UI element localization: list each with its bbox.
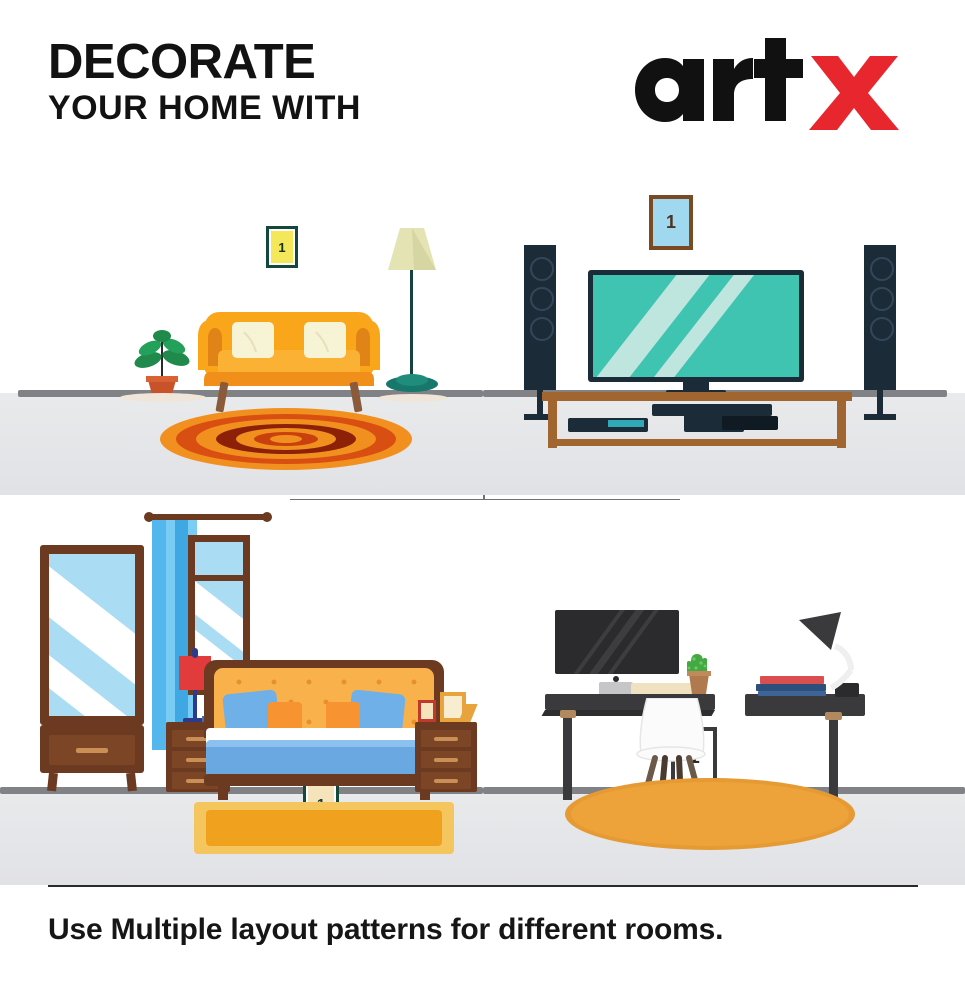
nightstand-handle-2[interactable]: [434, 758, 458, 762]
headline-line-1: DECORATE: [48, 38, 508, 87]
mirror-glass: [49, 554, 135, 716]
window-mullion: [195, 575, 243, 581]
artwork-number: 1: [271, 231, 293, 263]
yellow-sofa: [196, 288, 382, 400]
bed: [204, 660, 444, 800]
monitor-stand: [599, 682, 633, 694]
floor-lamp-icon: [374, 220, 450, 398]
artwork-number: 1: [653, 199, 689, 246]
media-box-accent: [608, 420, 644, 427]
tv-screen: [593, 275, 799, 377]
oval-rug: [565, 778, 855, 850]
lamp-stem: [193, 690, 197, 718]
bed-comforter-edge: [206, 740, 442, 747]
curtain-panel-2: [166, 520, 175, 750]
nightstand-handle-1[interactable]: [434, 737, 458, 741]
monitor-screen: [555, 610, 679, 674]
bed-base-rail: [204, 774, 444, 786]
scene-tv-room: 1: [483, 170, 965, 495]
lamp-shadow: [378, 394, 448, 402]
speaker-base: [864, 414, 896, 420]
monitor: [555, 610, 679, 692]
plant-shadow: [120, 393, 206, 402]
tower-speaker-right: [864, 245, 896, 425]
round-rug: [160, 408, 412, 470]
mirror-leg-left: [47, 773, 58, 792]
caption-divider-rule: [48, 885, 918, 887]
desk-leg-left-cap: [560, 710, 576, 718]
potted-plant: [132, 320, 192, 398]
mirror-leg-right: [126, 773, 137, 792]
photo-frame-small-inner: [421, 703, 433, 719]
living-room-art-frame[interactable]: 1: [266, 226, 298, 268]
poster-canvas: DECORATE YOUR HOME WITH: [0, 0, 965, 1000]
cactus-plant: [681, 646, 717, 696]
speaker-cone-mid: [530, 287, 554, 311]
television: [588, 270, 804, 398]
scene-living-room: 1: [0, 170, 483, 495]
desk-leg-right-cap: [825, 712, 842, 720]
tv-room-art-frame[interactable]: 1: [649, 195, 693, 250]
logo-artx-icon: [615, 36, 915, 144]
floor-lamp: [374, 220, 450, 398]
speaker-cone-mid: [870, 287, 894, 311]
rectangular-rug: [194, 802, 454, 854]
scene-bedroom: 1: [0, 500, 483, 885]
scene-home-office: 1: [483, 500, 965, 885]
art-mat: 1: [269, 229, 295, 265]
nightstand-right: [415, 722, 477, 792]
caption-text: Use Multiple layout patterns for differe…: [48, 913, 928, 947]
lamp-finial: [192, 648, 198, 658]
nightstand-handle-3[interactable]: [434, 779, 458, 783]
speaker-cone-bottom: [530, 317, 554, 341]
desk-lamp: [791, 608, 879, 700]
console-top: [542, 392, 852, 401]
rod-finial-right: [262, 512, 272, 522]
bed-leg-left: [218, 784, 228, 800]
speaker-cone-top: [870, 257, 894, 281]
console-shelf: [548, 439, 846, 446]
rug-inner: [206, 810, 442, 846]
headline-line-2: YOUR HOME WITH: [48, 87, 508, 130]
tv-console: [542, 392, 852, 450]
speaker-cone-bottom: [870, 317, 894, 341]
speaker-stem: [877, 390, 883, 414]
poster-header: DECORATE YOUR HOME WITH: [0, 0, 965, 170]
curtain-panel-1: [152, 520, 166, 750]
mirror-drawer-handle[interactable]: [76, 748, 108, 753]
photo-frames: [416, 690, 478, 724]
plant-icon: [132, 320, 192, 398]
poster-caption: Use Multiple layout patterns for differe…: [0, 885, 965, 1000]
scene-grid: 1: [0, 170, 965, 885]
speaker-cone-top: [530, 257, 554, 281]
photo-frame-large-inner: [444, 696, 462, 718]
standing-mirror: [40, 545, 155, 795]
desk-lamp-icon: [791, 608, 879, 700]
brand-logo-artx: [615, 36, 915, 144]
rug-ring-7: [270, 435, 302, 443]
rug-surface: [571, 782, 849, 846]
cactus-icon: [681, 646, 717, 696]
receiver-grill: [722, 416, 778, 430]
headline-block: DECORATE YOUR HOME WITH: [48, 38, 508, 130]
